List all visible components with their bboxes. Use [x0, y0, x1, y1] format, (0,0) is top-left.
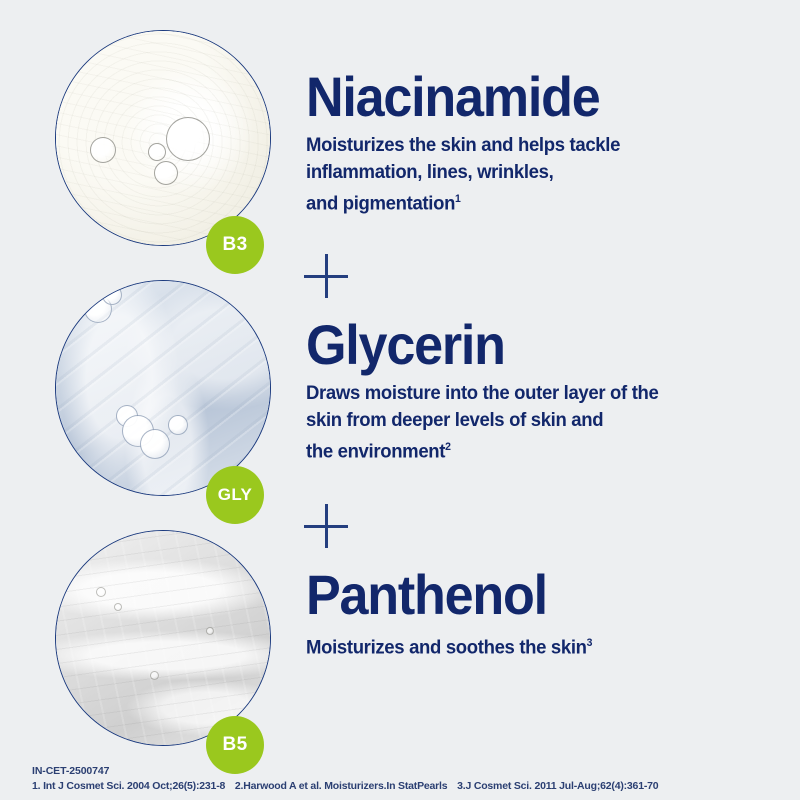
reference-3: 3.J Cosmet Sci. 2011 Jul-Aug;62(4):361-7…: [457, 780, 658, 792]
desc-line: and pigmentation: [306, 193, 455, 215]
desc-line: skin from deeper levels of skin and: [306, 409, 603, 431]
bubble-icon: [96, 587, 106, 597]
ingredient-row-glycerin: GLY Glycerin Draws moisture into the out…: [0, 272, 800, 522]
ingredient-title: Panthenol: [306, 566, 743, 624]
swatch-panthenol: [55, 530, 271, 746]
desc-line: Moisturizes the skin and helps tackle: [306, 134, 620, 156]
ingredient-description: Draws moisture into the outer layer of t…: [306, 380, 753, 466]
footnote-marker: 2: [445, 441, 450, 453]
gel-texture-panthenol: [55, 530, 271, 746]
badge-gly: GLY: [206, 466, 264, 524]
bubble-icon: [114, 603, 122, 611]
ingredient-infographic: B3 Niacinamide Moisturizes the skin and …: [0, 0, 800, 800]
ingredient-text-glycerin: Glycerin Draws moisture into the outer l…: [306, 316, 776, 466]
bubble-icon: [90, 137, 116, 163]
bubble-icon: [102, 285, 122, 305]
bubble-icon: [150, 671, 159, 680]
badge-label: B5: [222, 734, 247, 756]
desc-line: Moisturizes and soothes the skin: [306, 637, 587, 659]
footnote-marker: 1: [455, 193, 460, 205]
badge-label: GLY: [218, 485, 253, 505]
bubble-icon: [166, 117, 210, 161]
ingredient-title: Glycerin: [306, 316, 743, 374]
badge-label: B3: [222, 234, 247, 256]
footer-code: IN-CET-2500747: [32, 765, 792, 777]
ingredient-title: Niacinamide: [306, 68, 743, 126]
ingredient-text-niacinamide: Niacinamide Moisturizes the skin and hel…: [306, 68, 776, 218]
bubble-icon: [154, 161, 178, 185]
bubble-icon: [148, 143, 166, 161]
ingredient-text-panthenol: Panthenol Moisturizes and soothes the sk…: [306, 566, 776, 662]
ingredient-row-niacinamide: B3 Niacinamide Moisturizes the skin and …: [0, 22, 800, 272]
bubble-icon: [168, 415, 188, 435]
badge-b3: B3: [206, 216, 264, 274]
swatch-niacinamide: [55, 30, 271, 246]
ingredient-description: Moisturizes and soothes the skin3: [306, 630, 753, 662]
desc-line: Draws moisture into the outer layer of t…: [306, 382, 658, 404]
footer: IN-CET-2500747 1. Int J Cosmet Sci. 2004…: [32, 765, 792, 792]
footnote-marker: 3: [587, 637, 592, 649]
swatch-glycerin: [55, 280, 271, 496]
footer-references: 1. Int J Cosmet Sci. 2004 Oct;26(5):231-…: [32, 780, 792, 792]
reference-2: 2.Harwood A et al. Moisturizers.In StatP…: [235, 780, 448, 792]
desc-line: inflammation, lines, wrinkles,: [306, 161, 553, 183]
desc-line: the environment: [306, 441, 445, 463]
ingredient-row-panthenol: B5 Panthenol Moisturizes and soothes the…: [0, 522, 800, 772]
bubble-icon: [140, 429, 170, 459]
ingredient-description: Moisturizes the skin and helps tackle in…: [306, 132, 753, 218]
bubble-icon: [206, 627, 214, 635]
gel-texture-niacinamide: [55, 30, 271, 246]
reference-1: 1. Int J Cosmet Sci. 2004 Oct;26(5):231-…: [32, 780, 225, 792]
